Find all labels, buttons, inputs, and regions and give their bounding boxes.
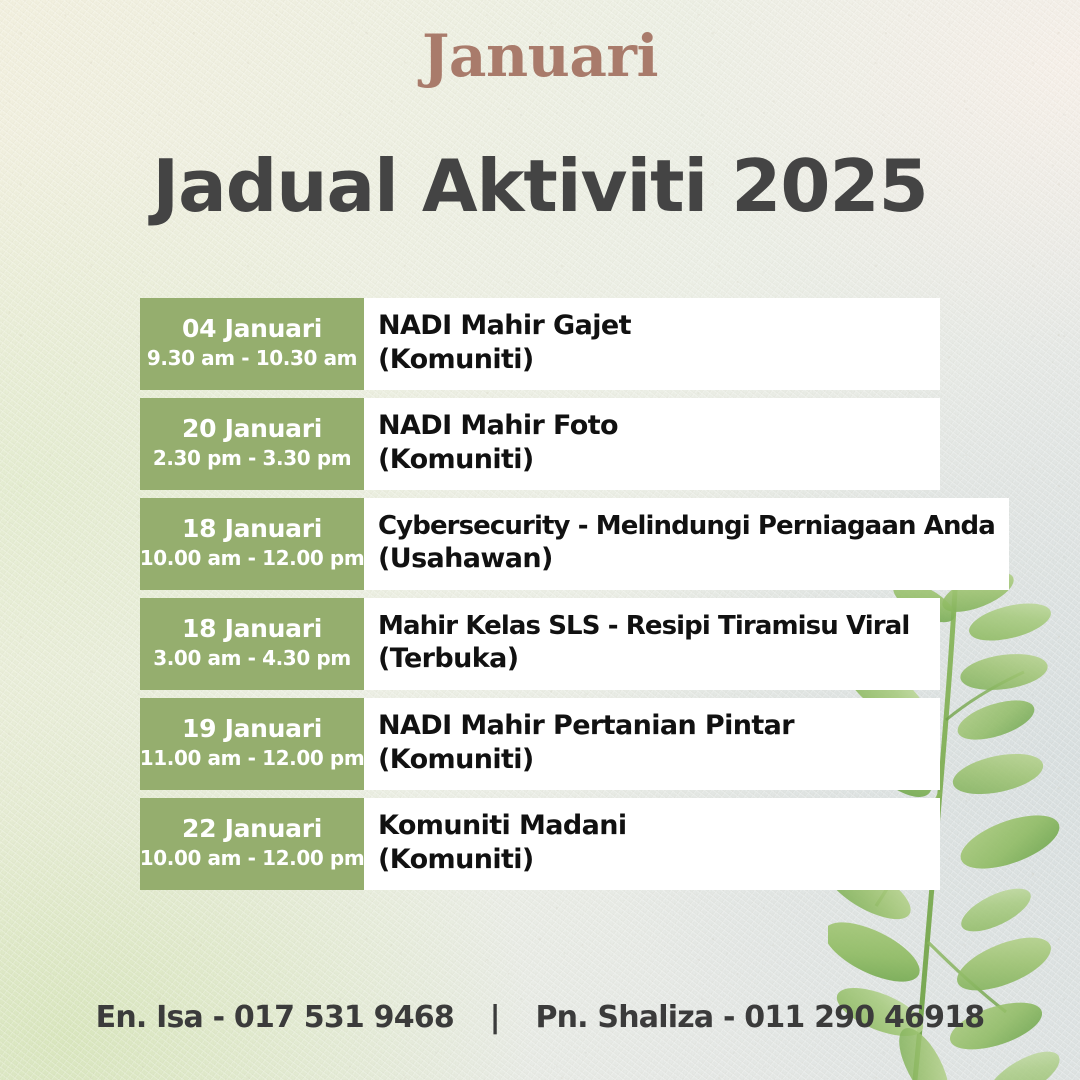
- schedule-row: 18 Januari10.00 am - 12.00 pmCybersecuri…: [140, 498, 940, 590]
- event-time: 3.00 am - 4.30 pm: [153, 646, 351, 671]
- contact-shaliza[interactable]: Pn. Shaliza - 011 290 46918: [535, 1000, 984, 1035]
- event-date: 19 Januari: [182, 715, 322, 744]
- activity-title: NADI Mahir Foto: [378, 410, 926, 442]
- event-date: 18 Januari: [182, 515, 322, 544]
- activity-title: Mahir Kelas SLS - Resipi Tiramisu Viral: [378, 611, 926, 642]
- event-date: 20 Januari: [182, 415, 322, 444]
- schedule-row: 18 Januari3.00 am - 4.30 pmMahir Kelas S…: [140, 598, 940, 690]
- event-date: 22 Januari: [182, 815, 322, 844]
- activity-cell: Komuniti Madani(Komuniti): [364, 798, 940, 890]
- activity-cell: NADI Mahir Foto(Komuniti): [364, 398, 940, 490]
- month-title: Januari: [0, 26, 1080, 87]
- activity-title: NADI Mahir Gajet: [378, 310, 926, 342]
- contact-isa[interactable]: En. Isa - 017 531 9468: [96, 1000, 454, 1035]
- schedule-row: 20 Januari2.30 pm - 3.30 pmNADI Mahir Fo…: [140, 398, 940, 490]
- activity-title: Komuniti Madani: [378, 810, 926, 842]
- event-time: 10.00 am - 12.00 pm: [140, 546, 365, 571]
- date-cell: 19 Januari11.00 am - 12.00 pm: [140, 698, 364, 790]
- poster-header: Januari Jadual Aktiviti 2025: [0, 0, 1080, 224]
- schedule-row: 04 Januari9.30 am - 10.30 amNADI Mahir G…: [140, 298, 940, 390]
- activity-cell: Mahir Kelas SLS - Resipi Tiramisu Viral(…: [364, 598, 940, 690]
- date-cell: 18 Januari3.00 am - 4.30 pm: [140, 598, 364, 690]
- schedule-table: 04 Januari9.30 am - 10.30 amNADI Mahir G…: [140, 298, 940, 890]
- activity-title: Cybersecurity - Melindungi Perniagaan An…: [378, 511, 995, 542]
- event-time: 2.30 pm - 3.30 pm: [153, 446, 351, 471]
- date-cell: 04 Januari9.30 am - 10.30 am: [140, 298, 364, 390]
- event-time: 11.00 am - 12.00 pm: [140, 746, 365, 771]
- schedule-row: 22 Januari10.00 am - 12.00 pmKomuniti Ma…: [140, 798, 940, 890]
- activity-cell: Cybersecurity - Melindungi Perniagaan An…: [364, 498, 1009, 590]
- activity-title: NADI Mahir Pertanian Pintar: [378, 710, 926, 742]
- activity-audience: (Terbuka): [378, 643, 926, 675]
- activity-audience: (Komuniti): [378, 444, 926, 476]
- event-time: 9.30 am - 10.30 am: [147, 346, 357, 371]
- footer-contacts: En. Isa - 017 531 9468 | Pn. Shaliza - 0…: [0, 1000, 1080, 1035]
- date-cell: 18 Januari10.00 am - 12.00 pm: [140, 498, 364, 590]
- event-date: 18 Januari: [182, 615, 322, 644]
- activity-audience: (Komuniti): [378, 744, 926, 776]
- schedule-row: 19 Januari11.00 am - 12.00 pmNADI Mahir …: [140, 698, 940, 790]
- page-title: Jadual Aktiviti 2025: [0, 149, 1080, 225]
- poster-canvas: Januari Jadual Aktiviti 2025 04 Januari9…: [0, 0, 1080, 1080]
- activity-audience: (Komuniti): [378, 344, 926, 376]
- activity-audience: (Komuniti): [378, 844, 926, 876]
- activity-cell: NADI Mahir Gajet(Komuniti): [364, 298, 940, 390]
- date-cell: 22 Januari10.00 am - 12.00 pm: [140, 798, 364, 890]
- event-time: 10.00 am - 12.00 pm: [140, 846, 365, 871]
- date-cell: 20 Januari2.30 pm - 3.30 pm: [140, 398, 364, 490]
- activity-cell: NADI Mahir Pertanian Pintar(Komuniti): [364, 698, 940, 790]
- event-date: 04 Januari: [182, 315, 322, 344]
- activity-audience: (Usahawan): [378, 543, 995, 575]
- contact-separator: |: [464, 1000, 526, 1035]
